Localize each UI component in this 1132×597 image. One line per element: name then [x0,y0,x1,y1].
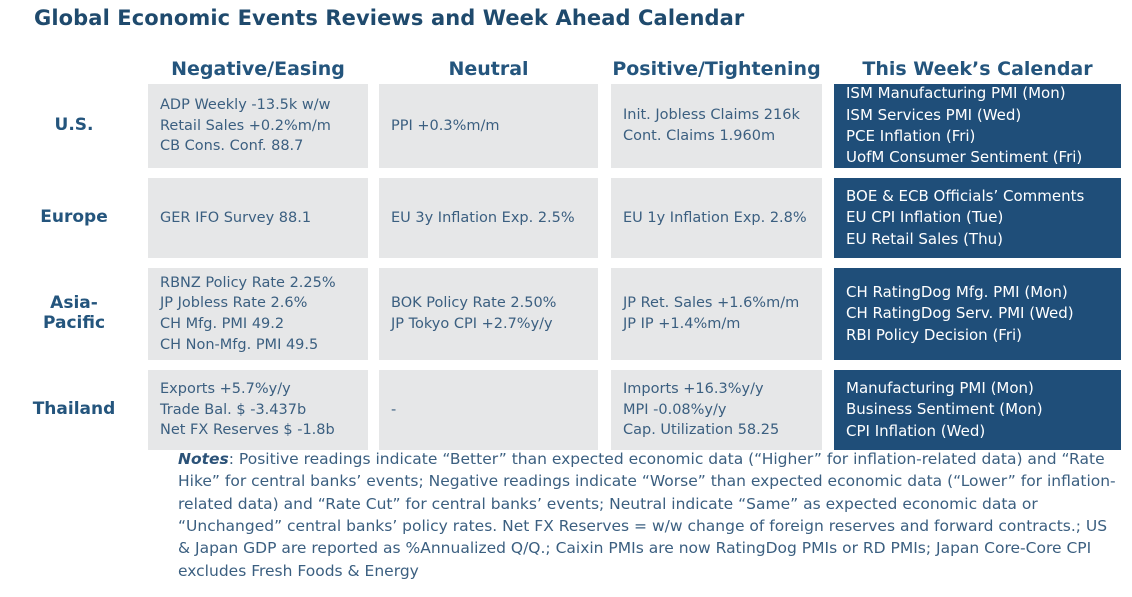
cell-gap [822,84,834,168]
table-row: Thailand Exports +5.7%y/yTrade Bal. $ -3… [0,370,1132,450]
grid-header-row: Negative/Easing Neutral Positive/Tighten… [0,42,1132,84]
cell-gap [368,370,379,450]
cell-gap [368,84,379,168]
cell-line: EU 3y Inflation Exp. 2.5% [391,208,586,229]
cell-line: Net FX Reserves $ -1.8b [160,420,356,441]
cell-gap [368,268,379,360]
cell-gap [822,178,834,258]
col-head-corner [0,42,148,84]
row-label-europe: Europe [0,178,148,258]
cell-thailand-neutral: - [379,370,598,450]
cell-line: PCE Inflation (Fri) [846,126,1109,147]
cell-line: RBNZ Policy Rate 2.25% [160,273,356,294]
cell-line: Cont. Claims 1.960m [623,126,810,147]
row-gap [0,168,1132,178]
row-gap [0,258,1132,268]
cell-europe-neutral: EU 3y Inflation Exp. 2.5% [379,178,598,258]
cell-asia-negative: RBNZ Policy Rate 2.25%JP Jobless Rate 2.… [148,268,368,360]
row-label-us: U.S. [0,84,148,168]
row-label-asia-pacific: Asia-Pacific [0,268,148,360]
cell-line: CH RatingDog Serv. PMI (Wed) [846,303,1109,324]
cell-line: CB Cons. Conf. 88.7 [160,136,356,157]
cell-line: JP IP +1.4%m/m [623,314,810,335]
cell-us-negative: ADP Weekly -13.5k w/wRetail Sales +0.2%m… [148,84,368,168]
cell-thailand-negative: Exports +5.7%y/yTrade Bal. $ -3.437bNet … [148,370,368,450]
events-grid: Negative/Easing Neutral Positive/Tighten… [0,42,1132,450]
cell-line: UofM Consumer Sentiment (Fri) [846,147,1109,168]
cell-line: EU CPI Inflation (Tue) [846,207,1109,228]
table-row: Asia-Pacific RBNZ Policy Rate 2.25%JP Jo… [0,268,1132,360]
cell-line: JP Jobless Rate 2.6% [160,293,356,314]
cell-line: ISM Services PMI (Wed) [846,105,1109,126]
cell-us-neutral: PPI +0.3%m/m [379,84,598,168]
cell-europe-calendar: BOE & ECB Officials’ CommentsEU CPI Infl… [834,178,1121,258]
cell-line: Cap. Utilization 58.25 [623,420,810,441]
cell-line: Manufacturing PMI (Mon) [846,378,1109,399]
cell-gap [598,268,611,360]
col-head-negative: Negative/Easing [148,58,368,84]
table-row: Europe GER IFO Survey 88.1 EU 3y Inflati… [0,178,1132,258]
notes-block: Notes: Positive readings indicate “Bette… [178,448,1118,582]
cell-line: Trade Bal. $ -3.437b [160,400,356,421]
cell-asia-calendar: CH RatingDog Mfg. PMI (Mon)CH RatingDog … [834,268,1121,360]
cell-line: CH Non-Mfg. PMI 49.5 [160,335,356,356]
cell-gap [598,84,611,168]
cell-gap [368,178,379,258]
cell-gap [822,370,834,450]
cell-line: Imports +16.3%y/y [623,379,810,400]
cell-line: EU Retail Sales (Thu) [846,229,1109,250]
cell-line: CH Mfg. PMI 49.2 [160,314,356,335]
row-label-thailand: Thailand [0,370,148,450]
cell-europe-positive: EU 1y Inflation Exp. 2.8% [611,178,822,258]
cell-thailand-positive: Imports +16.3%y/yMPI -0.08%y/yCap. Utili… [611,370,822,450]
cell-line: BOK Policy Rate 2.50% [391,293,586,314]
col-head-positive: Positive/Tightening [611,58,822,84]
cell-line: GER IFO Survey 88.1 [160,208,356,229]
cell-gap [822,268,834,360]
cell-line: ISM Manufacturing PMI (Mon) [846,83,1109,104]
cell-line: Retail Sales +0.2%m/m [160,116,356,137]
col-head-calendar: This Week’s Calendar [834,58,1121,84]
table-row: U.S. ADP Weekly -13.5k w/wRetail Sales +… [0,84,1132,168]
cell-us-positive: Init. Jobless Claims 216kCont. Claims 1.… [611,84,822,168]
notes-label: Notes [178,450,229,468]
cell-gap [598,370,611,450]
notes-text: : Positive readings indicate “Better” th… [178,450,1116,580]
cell-line: - [391,400,586,421]
cell-line: Exports +5.7%y/y [160,379,356,400]
cell-line: BOE & ECB Officials’ Comments [846,186,1109,207]
cell-line: MPI -0.08%y/y [623,400,810,421]
cell-line: ADP Weekly -13.5k w/w [160,95,356,116]
cell-asia-neutral: BOK Policy Rate 2.50%JP Tokyo CPI +2.7%y… [379,268,598,360]
cell-gap [598,178,611,258]
cell-line: CH RatingDog Mfg. PMI (Mon) [846,282,1109,303]
cell-line: EU 1y Inflation Exp. 2.8% [623,208,810,229]
cell-line: RBI Policy Decision (Fri) [846,325,1109,346]
page-title: Global Economic Events Reviews and Week … [34,6,744,30]
row-gap [0,360,1132,370]
cell-thailand-calendar: Manufacturing PMI (Mon)Business Sentimen… [834,370,1121,450]
cell-europe-negative: GER IFO Survey 88.1 [148,178,368,258]
cell-line: CPI Inflation (Wed) [846,421,1109,442]
calendar-page: Global Economic Events Reviews and Week … [0,0,1132,597]
cell-line: Init. Jobless Claims 216k [623,105,810,126]
cell-asia-positive: JP Ret. Sales +1.6%m/mJP IP +1.4%m/m [611,268,822,360]
cell-line: JP Ret. Sales +1.6%m/m [623,293,810,314]
cell-line: JP Tokyo CPI +2.7%y/y [391,314,586,335]
col-head-neutral: Neutral [379,58,598,84]
cell-line: PPI +0.3%m/m [391,116,586,137]
cell-us-calendar: ISM Manufacturing PMI (Mon)ISM Services … [834,84,1121,168]
cell-line: Business Sentiment (Mon) [846,399,1109,420]
